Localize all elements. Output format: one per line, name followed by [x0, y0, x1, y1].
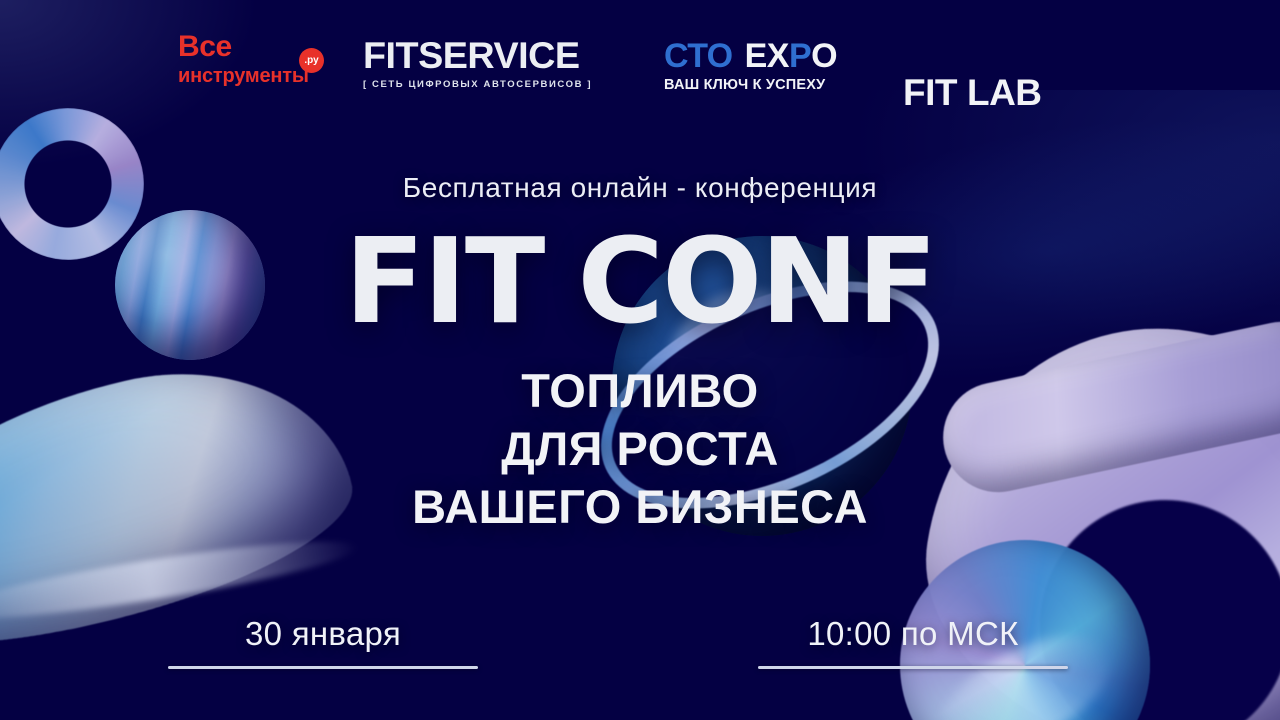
fitservice-word2: SERVICE — [418, 35, 579, 76]
logo-fitlab[interactable]: FITLAB — [903, 74, 1042, 111]
event-time: 10:00 по МСК — [758, 616, 1068, 652]
event-date-block: 30 января — [168, 616, 478, 669]
logo-bar: Все инструменты .ру FITSERVICE [ СЕТЬ ЦИ… — [0, 34, 1280, 98]
ctoexpo-tagline: ВАШ КЛЮЧ К УСПЕХУ — [664, 77, 864, 93]
fitservice-tagline: [ СЕТЬ ЦИФРОВЫХ АВТОСЕРВИСОВ ] — [363, 79, 625, 90]
fitservice-wordmark: FITSERVICE — [363, 37, 630, 74]
ctoexpo-word2: EXPO — [745, 37, 838, 75]
event-meta: 30 января 10:00 по МСК — [0, 0, 1280, 720]
logo-cto-expo[interactable]: СТОEXPO ВАШ КЛЮЧ К УСПЕХУ — [664, 39, 864, 93]
ctoexpo-word2-a: EX — [745, 37, 789, 75]
fitlab-wordmark: FITLAB — [903, 74, 1042, 111]
ctoexpo-wordmark: СТОEXPO — [664, 39, 864, 73]
vseinstrumenty-ru-badge-icon: .ру — [299, 48, 324, 73]
logo-fitservice[interactable]: FITSERVICE [ СЕТЬ ЦИФРОВЫХ АВТОСЕРВИСОВ … — [363, 37, 625, 90]
logo-vseinstrumenty[interactable]: Все инструменты .ру — [178, 32, 328, 100]
event-date: 30 января — [168, 616, 478, 652]
ctoexpo-word2-b: O — [811, 37, 837, 75]
fitservice-word1: FIT — [363, 35, 418, 76]
ctoexpo-word1: СТО — [664, 37, 733, 75]
fitlab-word2: LAB — [967, 72, 1042, 113]
conference-poster: Все инструменты .ру FITSERVICE [ СЕТЬ ЦИ… — [0, 0, 1280, 720]
fitlab-word1: FIT — [903, 72, 957, 113]
event-time-underline — [758, 666, 1068, 669]
ctoexpo-word2-p-accent: P — [789, 37, 811, 75]
event-time-block: 10:00 по МСК — [758, 616, 1068, 669]
event-date-underline — [168, 666, 478, 669]
